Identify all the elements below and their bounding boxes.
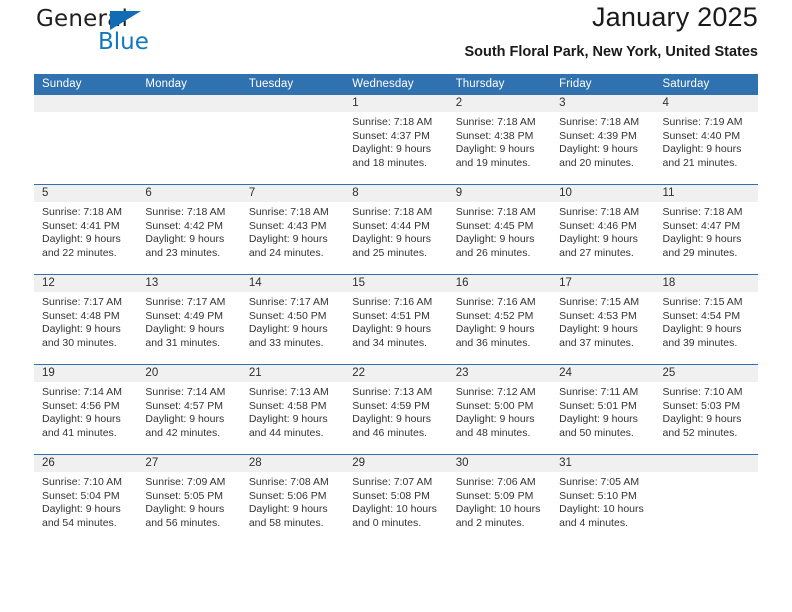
day-cell-empty <box>34 95 137 184</box>
daylight-text-line1: Daylight: 9 hours <box>249 233 344 247</box>
day-details: Sunrise: 7:14 AMSunset: 4:56 PMDaylight:… <box>42 386 137 440</box>
day-cell-26[interactable]: 26Sunrise: 7:10 AMSunset: 5:04 PMDayligh… <box>34 455 137 544</box>
sunset-text: Sunset: 4:50 PM <box>249 310 344 324</box>
daylight-text-line1: Daylight: 9 hours <box>249 413 344 427</box>
day-details: Sunrise: 7:17 AMSunset: 4:49 PMDaylight:… <box>145 296 240 350</box>
sunset-text: Sunset: 4:40 PM <box>663 130 758 144</box>
day-cell-empty <box>241 95 344 184</box>
day-number: 14 <box>249 275 344 292</box>
weekday-header-monday: Monday <box>137 74 240 95</box>
daylight-text-line1: Daylight: 9 hours <box>352 323 447 337</box>
daylight-text-line2: and 33 minutes. <box>249 337 344 351</box>
day-details: Sunrise: 7:18 AMSunset: 4:45 PMDaylight:… <box>456 206 551 260</box>
day-cell-21[interactable]: 21Sunrise: 7:13 AMSunset: 4:58 PMDayligh… <box>241 365 344 454</box>
calendar-week-row: 5Sunrise: 7:18 AMSunset: 4:41 PMDaylight… <box>34 184 758 274</box>
daylight-text-line1: Daylight: 9 hours <box>663 413 758 427</box>
sunset-text: Sunset: 5:01 PM <box>559 400 654 414</box>
daylight-text-line2: and 46 minutes. <box>352 427 447 441</box>
sunset-text: Sunset: 4:52 PM <box>456 310 551 324</box>
day-number: 8 <box>352 185 447 202</box>
sunset-text: Sunset: 4:43 PM <box>249 220 344 234</box>
day-cell-6[interactable]: 6Sunrise: 7:18 AMSunset: 4:42 PMDaylight… <box>137 185 240 274</box>
day-number: 7 <box>249 185 344 202</box>
weekday-header-row: SundayMondayTuesdayWednesdayThursdayFrid… <box>34 74 758 95</box>
day-number <box>145 95 240 112</box>
day-details: Sunrise: 7:16 AMSunset: 4:51 PMDaylight:… <box>352 296 447 350</box>
day-cell-29[interactable]: 29Sunrise: 7:07 AMSunset: 5:08 PMDayligh… <box>344 455 447 544</box>
day-cell-8[interactable]: 8Sunrise: 7:18 AMSunset: 4:44 PMDaylight… <box>344 185 447 274</box>
day-details: Sunrise: 7:10 AMSunset: 5:03 PMDaylight:… <box>663 386 758 440</box>
day-number: 26 <box>42 455 137 472</box>
sunrise-text: Sunrise: 7:11 AM <box>559 386 654 400</box>
weekday-header-friday: Friday <box>551 74 654 95</box>
day-cell-18[interactable]: 18Sunrise: 7:15 AMSunset: 4:54 PMDayligh… <box>655 275 758 364</box>
calendar-weeks: 1Sunrise: 7:18 AMSunset: 4:37 PMDaylight… <box>34 95 758 544</box>
day-details: Sunrise: 7:18 AMSunset: 4:43 PMDaylight:… <box>249 206 344 260</box>
day-details: Sunrise: 7:16 AMSunset: 4:52 PMDaylight:… <box>456 296 551 350</box>
day-cell-28[interactable]: 28Sunrise: 7:08 AMSunset: 5:06 PMDayligh… <box>241 455 344 544</box>
day-details: Sunrise: 7:15 AMSunset: 4:53 PMDaylight:… <box>559 296 654 350</box>
day-cell-empty <box>655 455 758 544</box>
sunrise-text: Sunrise: 7:18 AM <box>559 116 654 130</box>
sunset-text: Sunset: 4:59 PM <box>352 400 447 414</box>
calendar-page: General Blue January 2025 South Floral P… <box>0 0 792 612</box>
daylight-text-line2: and 54 minutes. <box>42 517 137 531</box>
day-number: 25 <box>663 365 758 382</box>
sunrise-text: Sunrise: 7:15 AM <box>559 296 654 310</box>
sunrise-text: Sunrise: 7:12 AM <box>456 386 551 400</box>
sunset-text: Sunset: 4:41 PM <box>42 220 137 234</box>
daylight-text-line2: and 26 minutes. <box>456 247 551 261</box>
daylight-text-line2: and 21 minutes. <box>663 157 758 171</box>
sunset-text: Sunset: 5:06 PM <box>249 490 344 504</box>
day-details: Sunrise: 7:18 AMSunset: 4:39 PMDaylight:… <box>559 116 654 170</box>
sunset-text: Sunset: 4:54 PM <box>663 310 758 324</box>
calendar-week-row: 19Sunrise: 7:14 AMSunset: 4:56 PMDayligh… <box>34 364 758 454</box>
daylight-text-line1: Daylight: 9 hours <box>145 323 240 337</box>
day-number: 30 <box>456 455 551 472</box>
sunrise-text: Sunrise: 7:13 AM <box>249 386 344 400</box>
weekday-header-sunday: Sunday <box>34 74 137 95</box>
logo-triangle-icon <box>110 11 141 30</box>
sunrise-text: Sunrise: 7:10 AM <box>663 386 758 400</box>
daylight-text-line2: and 23 minutes. <box>145 247 240 261</box>
sunset-text: Sunset: 5:03 PM <box>663 400 758 414</box>
weekday-header-thursday: Thursday <box>448 74 551 95</box>
page-title: January 2025 <box>592 2 758 33</box>
calendar-grid: SundayMondayTuesdayWednesdayThursdayFrid… <box>34 74 758 544</box>
daylight-text-line2: and 18 minutes. <box>352 157 447 171</box>
day-details: Sunrise: 7:07 AMSunset: 5:08 PMDaylight:… <box>352 476 447 530</box>
sunrise-text: Sunrise: 7:18 AM <box>352 206 447 220</box>
day-details: Sunrise: 7:18 AMSunset: 4:42 PMDaylight:… <box>145 206 240 260</box>
day-number <box>42 95 137 112</box>
daylight-text-line2: and 0 minutes. <box>352 517 447 531</box>
sunrise-text: Sunrise: 7:08 AM <box>249 476 344 490</box>
daylight-text-line1: Daylight: 9 hours <box>249 503 344 517</box>
day-details: Sunrise: 7:18 AMSunset: 4:41 PMDaylight:… <box>42 206 137 260</box>
daylight-text-line2: and 19 minutes. <box>456 157 551 171</box>
day-details: Sunrise: 7:11 AMSunset: 5:01 PMDaylight:… <box>559 386 654 440</box>
daylight-text-line1: Daylight: 9 hours <box>456 323 551 337</box>
sunrise-text: Sunrise: 7:13 AM <box>352 386 447 400</box>
day-number: 13 <box>145 275 240 292</box>
day-number: 21 <box>249 365 344 382</box>
day-cell-22[interactable]: 22Sunrise: 7:13 AMSunset: 4:59 PMDayligh… <box>344 365 447 454</box>
sunset-text: Sunset: 4:47 PM <box>663 220 758 234</box>
daylight-text-line2: and 25 minutes. <box>352 247 447 261</box>
day-cell-2[interactable]: 2Sunrise: 7:18 AMSunset: 4:38 PMDaylight… <box>448 95 551 184</box>
sunset-text: Sunset: 4:38 PM <box>456 130 551 144</box>
daylight-text-line2: and 50 minutes. <box>559 427 654 441</box>
day-number <box>663 455 758 472</box>
daylight-text-line1: Daylight: 9 hours <box>456 143 551 157</box>
daylight-text-line2: and 48 minutes. <box>456 427 551 441</box>
general-blue-logo[interactable]: General Blue <box>36 8 246 62</box>
daylight-text-line1: Daylight: 10 hours <box>559 503 654 517</box>
daylight-text-line1: Daylight: 9 hours <box>352 143 447 157</box>
day-number: 2 <box>456 95 551 112</box>
day-number: 19 <box>42 365 137 382</box>
sunset-text: Sunset: 4:58 PM <box>249 400 344 414</box>
daylight-text-line1: Daylight: 9 hours <box>663 233 758 247</box>
sunrise-text: Sunrise: 7:06 AM <box>456 476 551 490</box>
calendar-week-row: 1Sunrise: 7:18 AMSunset: 4:37 PMDaylight… <box>34 95 758 184</box>
daylight-text-line1: Daylight: 9 hours <box>352 413 447 427</box>
day-number: 24 <box>559 365 654 382</box>
weekday-header-tuesday: Tuesday <box>241 74 344 95</box>
daylight-text-line2: and 31 minutes. <box>145 337 240 351</box>
daylight-text-line2: and 36 minutes. <box>456 337 551 351</box>
daylight-text-line2: and 52 minutes. <box>663 427 758 441</box>
weekday-header-saturday: Saturday <box>655 74 758 95</box>
day-cell-1[interactable]: 1Sunrise: 7:18 AMSunset: 4:37 PMDaylight… <box>344 95 447 184</box>
daylight-text-line2: and 39 minutes. <box>663 337 758 351</box>
day-details: Sunrise: 7:17 AMSunset: 4:50 PMDaylight:… <box>249 296 344 350</box>
day-details: Sunrise: 7:10 AMSunset: 5:04 PMDaylight:… <box>42 476 137 530</box>
sunrise-text: Sunrise: 7:18 AM <box>456 116 551 130</box>
sunset-text: Sunset: 4:37 PM <box>352 130 447 144</box>
day-number: 27 <box>145 455 240 472</box>
day-number: 29 <box>352 455 447 472</box>
sunrise-text: Sunrise: 7:18 AM <box>42 206 137 220</box>
day-number: 31 <box>559 455 654 472</box>
day-cell-19[interactable]: 19Sunrise: 7:14 AMSunset: 4:56 PMDayligh… <box>34 365 137 454</box>
day-number: 5 <box>42 185 137 202</box>
daylight-text-line1: Daylight: 9 hours <box>559 413 654 427</box>
daylight-text-line1: Daylight: 10 hours <box>456 503 551 517</box>
daylight-text-line1: Daylight: 9 hours <box>352 233 447 247</box>
sunrise-text: Sunrise: 7:18 AM <box>145 206 240 220</box>
sunrise-text: Sunrise: 7:18 AM <box>352 116 447 130</box>
day-number: 17 <box>559 275 654 292</box>
day-number: 28 <box>249 455 344 472</box>
daylight-text-line2: and 20 minutes. <box>559 157 654 171</box>
sunset-text: Sunset: 4:53 PM <box>559 310 654 324</box>
daylight-text-line2: and 30 minutes. <box>42 337 137 351</box>
day-cell-15[interactable]: 15Sunrise: 7:16 AMSunset: 4:51 PMDayligh… <box>344 275 447 364</box>
day-details: Sunrise: 7:05 AMSunset: 5:10 PMDaylight:… <box>559 476 654 530</box>
sunrise-text: Sunrise: 7:15 AM <box>663 296 758 310</box>
day-cell-31[interactable]: 31Sunrise: 7:05 AMSunset: 5:10 PMDayligh… <box>551 455 654 544</box>
day-number: 3 <box>559 95 654 112</box>
day-cell-25[interactable]: 25Sunrise: 7:10 AMSunset: 5:03 PMDayligh… <box>655 365 758 454</box>
day-cell-13[interactable]: 13Sunrise: 7:17 AMSunset: 4:49 PMDayligh… <box>137 275 240 364</box>
sunset-text: Sunset: 4:46 PM <box>559 220 654 234</box>
day-details: Sunrise: 7:18 AMSunset: 4:47 PMDaylight:… <box>663 206 758 260</box>
daylight-text-line2: and 22 minutes. <box>42 247 137 261</box>
daylight-text-line2: and 24 minutes. <box>249 247 344 261</box>
daylight-text-line2: and 56 minutes. <box>145 517 240 531</box>
day-cell-empty <box>137 95 240 184</box>
day-cell-17[interactable]: 17Sunrise: 7:15 AMSunset: 4:53 PMDayligh… <box>551 275 654 364</box>
sunrise-text: Sunrise: 7:07 AM <box>352 476 447 490</box>
sunset-text: Sunset: 5:09 PM <box>456 490 551 504</box>
day-details: Sunrise: 7:14 AMSunset: 4:57 PMDaylight:… <box>145 386 240 440</box>
daylight-text-line1: Daylight: 9 hours <box>663 323 758 337</box>
day-cell-12[interactable]: 12Sunrise: 7:17 AMSunset: 4:48 PMDayligh… <box>34 275 137 364</box>
daylight-text-line1: Daylight: 9 hours <box>42 503 137 517</box>
daylight-text-line2: and 37 minutes. <box>559 337 654 351</box>
sunrise-text: Sunrise: 7:19 AM <box>663 116 758 130</box>
sunrise-text: Sunrise: 7:17 AM <box>249 296 344 310</box>
day-number: 6 <box>145 185 240 202</box>
day-details: Sunrise: 7:17 AMSunset: 4:48 PMDaylight:… <box>42 296 137 350</box>
sunrise-text: Sunrise: 7:10 AM <box>42 476 137 490</box>
sunset-text: Sunset: 5:08 PM <box>352 490 447 504</box>
day-number: 1 <box>352 95 447 112</box>
day-details: Sunrise: 7:12 AMSunset: 5:00 PMDaylight:… <box>456 386 551 440</box>
daylight-text-line1: Daylight: 9 hours <box>559 233 654 247</box>
sunset-text: Sunset: 4:56 PM <box>42 400 137 414</box>
day-cell-5[interactable]: 5Sunrise: 7:18 AMSunset: 4:41 PMDaylight… <box>34 185 137 274</box>
sunset-text: Sunset: 5:04 PM <box>42 490 137 504</box>
day-details: Sunrise: 7:18 AMSunset: 4:37 PMDaylight:… <box>352 116 447 170</box>
sunset-text: Sunset: 4:42 PM <box>145 220 240 234</box>
weekday-header-wednesday: Wednesday <box>344 74 447 95</box>
day-cell-7[interactable]: 7Sunrise: 7:18 AMSunset: 4:43 PMDaylight… <box>241 185 344 274</box>
sunrise-text: Sunrise: 7:16 AM <box>352 296 447 310</box>
daylight-text-line1: Daylight: 9 hours <box>559 323 654 337</box>
day-number: 10 <box>559 185 654 202</box>
day-number: 22 <box>352 365 447 382</box>
sunset-text: Sunset: 4:48 PM <box>42 310 137 324</box>
daylight-text-line2: and 58 minutes. <box>249 517 344 531</box>
day-details: Sunrise: 7:15 AMSunset: 4:54 PMDaylight:… <box>663 296 758 350</box>
sunrise-text: Sunrise: 7:14 AM <box>42 386 137 400</box>
daylight-text-line2: and 44 minutes. <box>249 427 344 441</box>
day-details: Sunrise: 7:09 AMSunset: 5:05 PMDaylight:… <box>145 476 240 530</box>
daylight-text-line1: Daylight: 9 hours <box>42 413 137 427</box>
day-number <box>249 95 344 112</box>
daylight-text-line2: and 34 minutes. <box>352 337 447 351</box>
day-number: 23 <box>456 365 551 382</box>
day-details: Sunrise: 7:13 AMSunset: 4:59 PMDaylight:… <box>352 386 447 440</box>
day-cell-10[interactable]: 10Sunrise: 7:18 AMSunset: 4:46 PMDayligh… <box>551 185 654 274</box>
sunrise-text: Sunrise: 7:18 AM <box>249 206 344 220</box>
day-number: 9 <box>456 185 551 202</box>
sunset-text: Sunset: 4:45 PM <box>456 220 551 234</box>
logo-text-blue: Blue <box>98 31 149 54</box>
day-cell-11[interactable]: 11Sunrise: 7:18 AMSunset: 4:47 PMDayligh… <box>655 185 758 274</box>
day-cell-9[interactable]: 9Sunrise: 7:18 AMSunset: 4:45 PMDaylight… <box>448 185 551 274</box>
sunrise-text: Sunrise: 7:18 AM <box>456 206 551 220</box>
daylight-text-line1: Daylight: 9 hours <box>663 143 758 157</box>
day-details: Sunrise: 7:06 AMSunset: 5:09 PMDaylight:… <box>456 476 551 530</box>
sunset-text: Sunset: 4:49 PM <box>145 310 240 324</box>
day-cell-20[interactable]: 20Sunrise: 7:14 AMSunset: 4:57 PMDayligh… <box>137 365 240 454</box>
day-cell-4[interactable]: 4Sunrise: 7:19 AMSunset: 4:40 PMDaylight… <box>655 95 758 184</box>
sunset-text: Sunset: 4:51 PM <box>352 310 447 324</box>
sunset-text: Sunset: 5:00 PM <box>456 400 551 414</box>
daylight-text-line2: and 27 minutes. <box>559 247 654 261</box>
day-cell-23[interactable]: 23Sunrise: 7:12 AMSunset: 5:00 PMDayligh… <box>448 365 551 454</box>
sunrise-text: Sunrise: 7:17 AM <box>145 296 240 310</box>
daylight-text-line1: Daylight: 9 hours <box>456 413 551 427</box>
sunset-text: Sunset: 4:57 PM <box>145 400 240 414</box>
daylight-text-line1: Daylight: 9 hours <box>145 413 240 427</box>
day-cell-30[interactable]: 30Sunrise: 7:06 AMSunset: 5:09 PMDayligh… <box>448 455 551 544</box>
daylight-text-line1: Daylight: 9 hours <box>42 323 137 337</box>
day-details: Sunrise: 7:18 AMSunset: 4:46 PMDaylight:… <box>559 206 654 260</box>
day-number: 4 <box>663 95 758 112</box>
day-cell-16[interactable]: 16Sunrise: 7:16 AMSunset: 4:52 PMDayligh… <box>448 275 551 364</box>
day-number: 20 <box>145 365 240 382</box>
sunrise-text: Sunrise: 7:16 AM <box>456 296 551 310</box>
sunrise-text: Sunrise: 7:18 AM <box>559 206 654 220</box>
daylight-text-line1: Daylight: 9 hours <box>42 233 137 247</box>
day-number: 16 <box>456 275 551 292</box>
daylight-text-line2: and 2 minutes. <box>456 517 551 531</box>
sunrise-text: Sunrise: 7:18 AM <box>663 206 758 220</box>
daylight-text-line2: and 4 minutes. <box>559 517 654 531</box>
daylight-text-line1: Daylight: 10 hours <box>352 503 447 517</box>
calendar-week-row: 12Sunrise: 7:17 AMSunset: 4:48 PMDayligh… <box>34 274 758 364</box>
day-number: 11 <box>663 185 758 202</box>
daylight-text-line1: Daylight: 9 hours <box>249 323 344 337</box>
sunrise-text: Sunrise: 7:14 AM <box>145 386 240 400</box>
daylight-text-line1: Daylight: 9 hours <box>145 503 240 517</box>
sunset-text: Sunset: 4:44 PM <box>352 220 447 234</box>
day-details: Sunrise: 7:19 AMSunset: 4:40 PMDaylight:… <box>663 116 758 170</box>
day-details: Sunrise: 7:18 AMSunset: 4:38 PMDaylight:… <box>456 116 551 170</box>
day-cell-14[interactable]: 14Sunrise: 7:17 AMSunset: 4:50 PMDayligh… <box>241 275 344 364</box>
daylight-text-line1: Daylight: 9 hours <box>456 233 551 247</box>
day-details: Sunrise: 7:18 AMSunset: 4:44 PMDaylight:… <box>352 206 447 260</box>
daylight-text-line2: and 42 minutes. <box>145 427 240 441</box>
calendar-week-row: 26Sunrise: 7:10 AMSunset: 5:04 PMDayligh… <box>34 454 758 544</box>
daylight-text-line2: and 41 minutes. <box>42 427 137 441</box>
day-number: 18 <box>663 275 758 292</box>
daylight-text-line1: Daylight: 9 hours <box>145 233 240 247</box>
day-cell-27[interactable]: 27Sunrise: 7:09 AMSunset: 5:05 PMDayligh… <box>137 455 240 544</box>
sunrise-text: Sunrise: 7:09 AM <box>145 476 240 490</box>
day-details: Sunrise: 7:08 AMSunset: 5:06 PMDaylight:… <box>249 476 344 530</box>
sunrise-text: Sunrise: 7:05 AM <box>559 476 654 490</box>
sunset-text: Sunset: 4:39 PM <box>559 130 654 144</box>
daylight-text-line1: Daylight: 9 hours <box>559 143 654 157</box>
sunset-text: Sunset: 5:05 PM <box>145 490 240 504</box>
day-details: Sunrise: 7:13 AMSunset: 4:58 PMDaylight:… <box>249 386 344 440</box>
page-header: General Blue January 2025 South Floral P… <box>34 0 758 74</box>
daylight-text-line2: and 29 minutes. <box>663 247 758 261</box>
day-cell-24[interactable]: 24Sunrise: 7:11 AMSunset: 5:01 PMDayligh… <box>551 365 654 454</box>
page-subtitle: South Floral Park, New York, United Stat… <box>464 44 758 60</box>
day-cell-3[interactable]: 3Sunrise: 7:18 AMSunset: 4:39 PMDaylight… <box>551 95 654 184</box>
day-number: 12 <box>42 275 137 292</box>
day-number: 15 <box>352 275 447 292</box>
sunset-text: Sunset: 5:10 PM <box>559 490 654 504</box>
sunrise-text: Sunrise: 7:17 AM <box>42 296 137 310</box>
